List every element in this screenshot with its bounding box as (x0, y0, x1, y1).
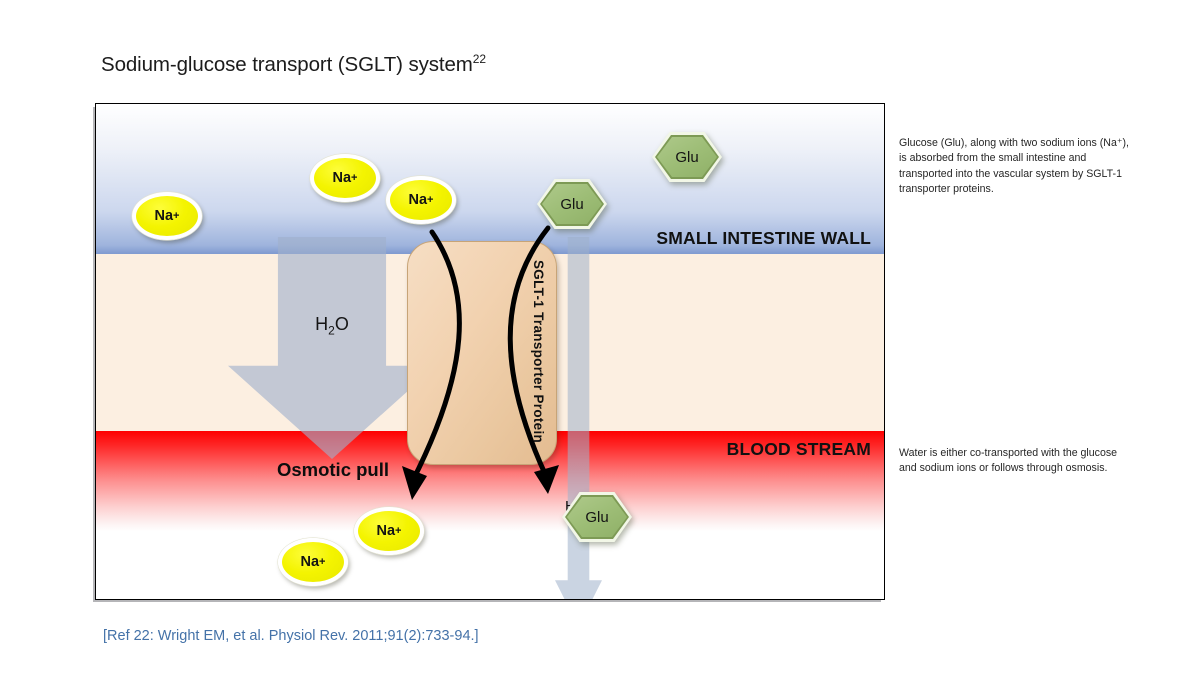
page-title-text: Sodium-glucose transport (SGLT) system (101, 53, 473, 76)
osmotic-arrow-water-label: H2O (228, 314, 436, 338)
diagram-inner: SMALL INTESTINE WALL BLOOD STREAM H2O Os… (96, 104, 884, 599)
sodium-ion: Na+ (354, 507, 424, 555)
sodium-ion: Na+ (310, 154, 380, 202)
water-2: 2 (328, 324, 335, 338)
glucose-molecule: Glu (537, 179, 607, 229)
sglt1-transporter-protein (407, 241, 557, 465)
label-small-intestine-wall: SMALL INTESTINE WALL (656, 228, 871, 249)
sodium-ion: Na+ (132, 192, 202, 240)
page-title-superscript: 22 (473, 52, 486, 66)
glucose-label: Glu (675, 149, 698, 166)
footer-reference: [Ref 22: Wright EM, et al. Physiol Rev. … (103, 628, 479, 644)
sodium-ion: Na+ (386, 176, 456, 224)
water-h: H (315, 314, 328, 334)
glucose-label: Glu (585, 509, 608, 526)
glucose-molecule: Glu (652, 132, 722, 182)
label-blood-stream: BLOOD STREAM (727, 439, 871, 460)
region-blood-fade (96, 531, 884, 599)
annotation-top: Glucose (Glu), along with two sodium ion… (899, 136, 1136, 197)
glucose-molecule: Glu (562, 492, 632, 542)
slide-canvas: Sodium-glucose transport (SGLT) system22… (0, 0, 1200, 675)
diagram-frame: SMALL INTESTINE WALL BLOOD STREAM H2O Os… (95, 103, 885, 600)
glucose-label: Glu (560, 196, 583, 213)
page-title: Sodium-glucose transport (SGLT) system22 (101, 52, 486, 77)
annotation-bottom: Water is either co-transported with the … (899, 446, 1136, 477)
water-o: O (335, 314, 349, 334)
sodium-ion: Na+ (278, 538, 348, 586)
